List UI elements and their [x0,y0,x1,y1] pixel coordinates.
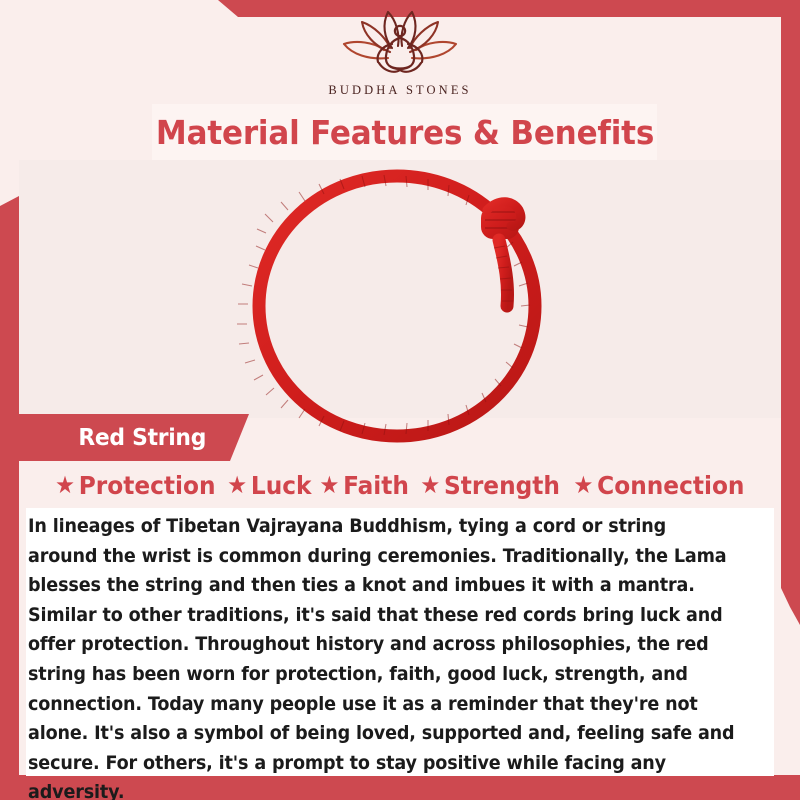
benefit-label: Strength [444,471,560,500]
star-icon: ★ [227,473,247,497]
brand-wordmark: BUDDHA STONES [328,83,471,98]
product-label-ribbon: Red String [19,414,249,461]
benefit-item-faith: ★ Faith [320,471,410,500]
star-icon: ★ [320,473,340,497]
decorative-right-bar [781,17,800,625]
brand-logo: BUDDHA STONES [0,8,800,98]
benefit-item-strength: ★ Strength [420,471,560,500]
benefits-row: ★ Protection ★ Luck ★ Faith ★ Strength ★… [19,466,781,504]
benefit-label: Luck [251,471,312,500]
title-band: Material Features & Benefits [152,104,657,160]
benefit-item-connection: ★ Connection [573,471,744,500]
infographic-canvas: BUDDHA STONES Material Features & Benefi… [0,0,800,800]
product-label: Red String [78,425,206,451]
decorative-left-bar [0,196,19,782]
page-title: Material Features & Benefits [155,113,653,152]
description-text: In lineages of Tibetan Vajrayana Buddhis… [28,512,737,800]
product-hero [19,160,781,418]
description-panel: In lineages of Tibetan Vajrayana Buddhis… [26,508,774,776]
benefit-label: Faith [344,471,410,500]
lotus-meditation-figure-icon [332,8,468,80]
benefit-item-protection: ★ Protection [55,471,215,500]
star-icon: ★ [573,473,593,497]
benefit-item-luck: ★ Luck [227,471,311,500]
star-icon: ★ [420,473,440,497]
benefit-label: Protection [79,471,216,500]
star-icon: ★ [55,473,75,497]
benefit-label: Connection [597,471,744,500]
red-braided-string-bracelet-image [169,154,639,454]
